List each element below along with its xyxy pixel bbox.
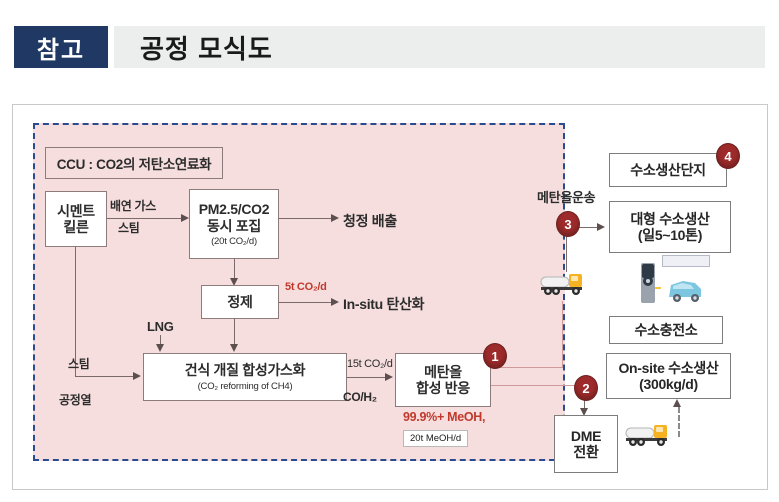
label-meoh-rate: 20t MeOH/d [403,430,468,447]
badge-3[interactable]: 3 [556,211,580,237]
box-hydrogen-complex-line1: 수소생산단지 [630,162,705,178]
label-lng: LNG [147,319,174,334]
box-purification[interactable]: 정제 [201,285,279,319]
box-h2onsite-line1: On-site 수소생산 [618,360,718,376]
header-tag: 참고 [14,26,108,68]
arrowhead-refine-reform [230,344,238,352]
page-title: 공정 모식도 [140,29,273,66]
hydrogen-charging-station-illustration [633,257,725,305]
box-methanol-line2: 합성 반응 [416,380,470,396]
header-title-bar: 공정 모식도 [114,26,765,68]
connector-kiln-reform [75,376,137,377]
box-hydrogen-station[interactable]: 수소충전소 [609,316,723,344]
box-cement-kiln-line2: 킬른 [63,219,88,235]
connector-capture-clean [279,218,335,219]
connector-refine-reform [234,319,235,347]
badge-1[interactable]: 1 [483,343,507,369]
diagram-frame: CCU : CO2의 저탄소연료화 [12,104,768,490]
station-signboard [662,255,710,267]
page-header: 참고 공정 모식도 [14,26,765,68]
label-steam-left: 스팀 [68,355,89,372]
box-methanol-synthesis[interactable]: 메탄올 합성 반응 [395,353,491,407]
label-co2-5t: 5t CO₂/d [285,281,327,293]
label-co2-15t: 15t CO₂/d [347,358,393,370]
connector-truck-onsite [678,407,680,437]
tanker-truck-icon-methanol [540,270,592,296]
connector-methanol-dme [491,385,585,386]
label-meoh-purity: 99.9%+ MeOH, [403,410,485,424]
badge-2[interactable]: 2 [574,375,598,401]
arrowhead-reform-methanol [385,373,393,381]
badge-1-label: 1 [491,349,498,364]
arrowhead-kiln-capture [181,214,189,222]
box-cement-kiln-line1: 시멘트 [57,203,95,219]
box-capture-line2: 동시 포집 [207,218,261,234]
connector-truckline-up [562,301,563,368]
box-reform-sub: (CO₂ reforming of CH4) [198,381,293,392]
box-h2station-line1: 수소충전소 [635,322,698,338]
connector-refine-insitu [279,302,335,303]
label-clean-emission: 청정 배출 [343,211,397,231]
box-h2large-line2: (일5~10톤) [638,227,702,243]
box-dry-reforming[interactable]: 건식 개질 합성가스화 (CO₂ reforming of CH4) [143,353,347,401]
box-h2large-line1: 대형 수소생산 [630,211,709,227]
label-steam-top: 스팀 [118,219,139,236]
box-hydrogen-complex[interactable]: 수소생산단지 [609,153,727,187]
label-methanol-transport: 메탄올운송 [537,187,595,206]
box-purification-line1: 정제 [227,294,252,310]
tanker-truck-icon-dme [625,421,677,447]
box-onsite-hydrogen-production[interactable]: On-site 수소생산 (300kg/d) [606,353,731,399]
ccu-region-label: CCU : CO2의 저탄소연료화 [45,147,223,179]
box-cement-kiln[interactable]: 시멘트 킬른 [45,191,107,247]
box-methanol-line1: 메탄올 [424,364,462,380]
box-capture-line1: PM2.5/CO2 [199,201,269,217]
arrowhead-truck-h2large [597,223,605,231]
arrowhead-lng-reform [156,344,164,352]
arrowhead-kiln-reform [133,372,141,380]
box-reform-line1: 건식 개질 합성가스화 [185,362,305,378]
box-dme-conversion[interactable]: DME 전환 [554,415,618,473]
connector-reform-methanol [347,377,389,378]
box-capture-sub: (20t CO₂/d) [211,236,257,247]
box-pm25-co2-capture[interactable]: PM2.5/CO2 동시 포집 (20t CO₂/d) [189,189,279,259]
badge-2-label: 2 [582,381,589,396]
label-process-heat: 공정열 [59,391,91,408]
badge-3-label: 3 [564,217,571,232]
ccu-region-label-text: CCU : CO2의 저탄소연료화 [57,153,212,173]
box-dme-line1: DME [571,428,601,444]
box-large-hydrogen-production[interactable]: 대형 수소생산 (일5~10톤) [609,201,731,253]
arrowhead-truck-onsite [673,399,681,407]
badge-4[interactable]: 4 [716,143,740,169]
box-h2onsite-line2: (300kg/d) [639,376,698,392]
connector-methanol-truckline [491,367,563,368]
label-flue-gas: 배연 가스 [110,197,156,214]
label-co-h2: CO/H₂ [343,390,377,404]
box-dme-line2: 전환 [573,444,598,460]
badge-4-label: 4 [724,149,731,164]
header-tag-label: 참고 [37,30,85,65]
label-insitu-carbonation: In-situ 탄산화 [343,294,424,314]
arrowhead-capture-clean [331,214,339,222]
process-schematic-page: 참고 공정 모식도 CCU : CO2의 저탄소연료화 [0,0,779,502]
arrowhead-refine-insitu [331,298,339,306]
